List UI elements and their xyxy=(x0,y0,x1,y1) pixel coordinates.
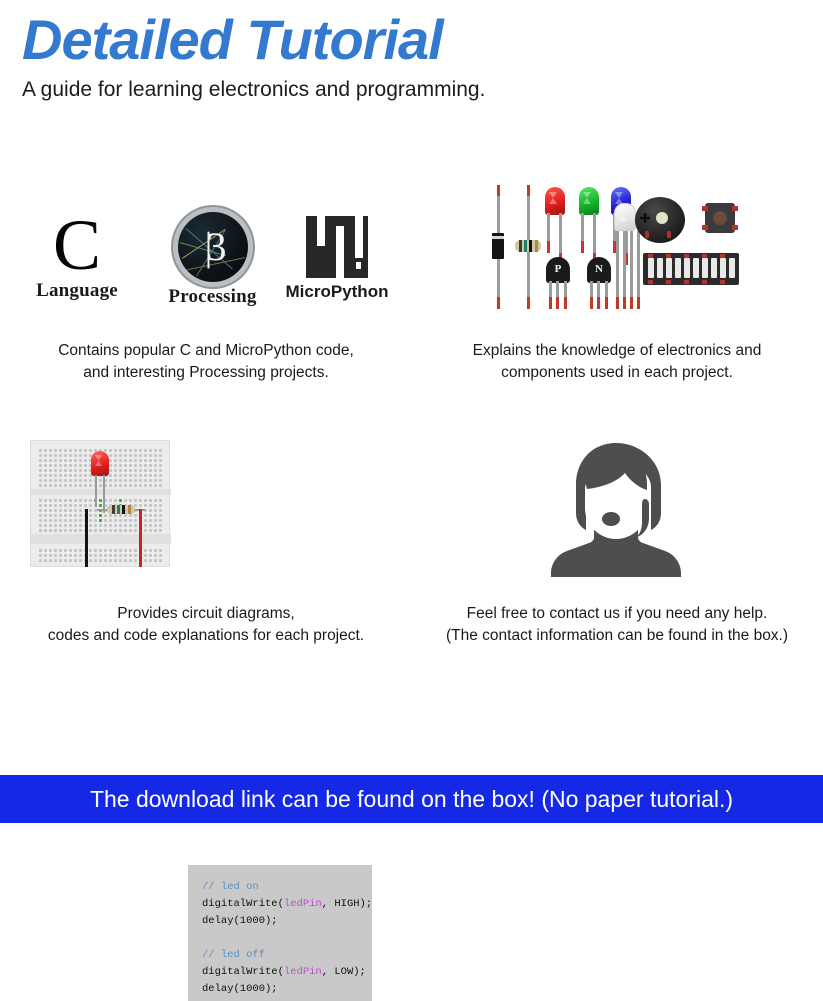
breadboard-hole xyxy=(149,524,152,527)
breadboard-hole xyxy=(49,449,52,452)
dip-pin xyxy=(702,280,707,284)
led-lead xyxy=(103,475,105,513)
band xyxy=(112,505,115,514)
breadboard-hole xyxy=(154,554,157,557)
breadboard-hole xyxy=(69,474,72,477)
breadboard-hole xyxy=(159,509,162,512)
breadboard-hole xyxy=(159,529,162,532)
breadboard-hole xyxy=(104,514,107,517)
breadboard-hole xyxy=(144,514,147,517)
breadboard-hole xyxy=(149,459,152,462)
band xyxy=(128,505,131,514)
breadboard-hole xyxy=(124,454,127,457)
support-caption: Feel free to contact us if you need any … xyxy=(411,603,823,647)
breadboard-hole xyxy=(144,559,147,562)
breadboard-hole xyxy=(74,479,77,482)
breadboard-hole xyxy=(109,449,112,452)
breadboard-hole xyxy=(69,554,72,557)
breadboard-hole xyxy=(109,474,112,477)
breadboard-hole xyxy=(79,514,82,517)
breadboard-hole xyxy=(134,474,137,477)
breadboard-hole-grid xyxy=(39,499,162,532)
breadboard-hole xyxy=(124,499,127,502)
download-link-banner: The download link can be found on the bo… xyxy=(0,775,823,823)
breadboard-hole xyxy=(104,549,107,552)
breadboard-hole xyxy=(69,459,72,462)
breadboard-hole xyxy=(144,529,147,532)
breadboard-hole xyxy=(64,479,67,482)
dip-pin xyxy=(720,280,725,284)
breadboard-hole xyxy=(59,454,62,457)
breadboard-hole xyxy=(84,459,87,462)
c-letter-icon: C xyxy=(18,212,136,278)
buzzer-pin xyxy=(645,231,649,238)
breadboard-hole xyxy=(109,479,112,482)
breadboard-hole xyxy=(129,459,132,462)
breadboard-hole xyxy=(59,554,62,557)
breadboard-hole xyxy=(74,529,77,532)
breadboard-hole xyxy=(89,484,92,487)
languages-caption: Contains popular C and MicroPython code,… xyxy=(0,340,412,384)
transistor-lead xyxy=(549,281,552,309)
breadboard-hole xyxy=(99,549,102,552)
dip-pin xyxy=(684,254,689,258)
band xyxy=(529,240,532,252)
breadboard-hole xyxy=(149,529,152,532)
breadboard-hole xyxy=(159,559,162,562)
buzzer-mark xyxy=(640,213,650,223)
breadboard-hole xyxy=(154,504,157,507)
breadboard-hole xyxy=(154,469,157,472)
breadboard-hole xyxy=(129,454,132,457)
breadboard-hole xyxy=(84,484,87,487)
breadboard-hole xyxy=(104,554,107,557)
breadboard-hole xyxy=(124,524,127,527)
breadboard-hole xyxy=(114,529,117,532)
breadboard-hole xyxy=(79,549,82,552)
breadboard-hole xyxy=(59,449,62,452)
breadboard-hole xyxy=(79,484,82,487)
breadboard-hole xyxy=(64,469,67,472)
dip-lever xyxy=(702,258,708,278)
breadboard-hole xyxy=(59,479,62,482)
button-pin xyxy=(702,225,708,230)
breadboard-hole xyxy=(114,474,117,477)
breadboard-hole xyxy=(89,509,92,512)
breadboard-hole xyxy=(49,499,52,502)
breadboard-hole xyxy=(154,529,157,532)
breadboard-hole xyxy=(139,479,142,482)
breadboard-hole xyxy=(59,474,62,477)
code-snippet-panel: // led on digitalWrite(ledPin, HIGH); de… xyxy=(188,865,372,1001)
micropython-mark-icon xyxy=(306,216,368,278)
breadboard-hole xyxy=(89,524,92,527)
breadboard-hole xyxy=(79,499,82,502)
breadboard-hole xyxy=(114,449,117,452)
breadboard-hole xyxy=(64,524,67,527)
breadboard-led-icon xyxy=(91,451,109,481)
breadboard-hole xyxy=(79,509,82,512)
electronic-components-illustration: P N xyxy=(483,185,739,309)
breadboard-hole xyxy=(124,464,127,467)
breadboard-hole xyxy=(39,449,42,452)
breadboard-hole xyxy=(139,454,142,457)
breadboard-hole xyxy=(134,549,137,552)
breadboard-hole xyxy=(119,524,122,527)
breadboard-hole xyxy=(149,504,152,507)
breadboard-hole xyxy=(59,529,62,532)
buzzer-icon xyxy=(635,197,685,243)
breadboard-hole xyxy=(154,459,157,462)
breadboard-hole xyxy=(84,499,87,502)
breadboard-hole xyxy=(94,519,97,522)
breadboard-hole xyxy=(94,524,97,527)
transistor-lead xyxy=(564,281,567,309)
breadboard-hole xyxy=(119,484,122,487)
breadboard-hole xyxy=(74,549,77,552)
breadboard-hole xyxy=(109,524,112,527)
page-header: Detailed Tutorial A guide for learning e… xyxy=(0,0,823,120)
breadboard-hole xyxy=(44,479,47,482)
breadboard-hole xyxy=(54,479,57,482)
page-title: Detailed Tutorial xyxy=(22,12,443,68)
breadboard-hole xyxy=(154,549,157,552)
breadboard-hole xyxy=(144,519,147,522)
breadboard-hole xyxy=(134,529,137,532)
breadboard-hole xyxy=(129,484,132,487)
breadboard-hole xyxy=(134,449,137,452)
breadboard-hole xyxy=(129,514,132,517)
breadboard-hole xyxy=(74,559,77,562)
breadboard-hole xyxy=(64,504,67,507)
breadboard-hole xyxy=(129,464,132,467)
breadboard-hole xyxy=(79,529,82,532)
breadboard-hole xyxy=(154,519,157,522)
code-token: , LOW); xyxy=(322,966,366,978)
breadboard-hole xyxy=(114,524,117,527)
breadboard-hole xyxy=(39,454,42,457)
led-bulb xyxy=(614,203,636,231)
breadboard-hole xyxy=(49,504,52,507)
breadboard-hole xyxy=(84,454,87,457)
breadboard-hole xyxy=(149,514,152,517)
breadboard-hole xyxy=(74,464,77,467)
breadboard-hole xyxy=(39,559,42,562)
breadboard-hole xyxy=(129,549,132,552)
breadboard-hole xyxy=(119,549,122,552)
breadboard-hole xyxy=(124,479,127,482)
breadboard-hole xyxy=(74,454,77,457)
breadboard-hole xyxy=(89,504,92,507)
micropython-logo: MicroPython xyxy=(278,212,396,302)
breadboard-hole xyxy=(99,554,102,557)
language-logo-row: C Language |3 Processing MicroPyth xyxy=(0,212,412,312)
breadboard-hole xyxy=(49,529,52,532)
breadboard-hole xyxy=(149,554,152,557)
mark-notch xyxy=(317,216,325,246)
dip-pin xyxy=(666,280,671,284)
breadboard-hole xyxy=(64,484,67,487)
breadboard-hole xyxy=(59,459,62,462)
breadboard-hole xyxy=(64,499,67,502)
feature-components: P N xyxy=(411,180,823,390)
breadboard-hole xyxy=(139,464,142,467)
breadboard-hole xyxy=(129,524,132,527)
breadboard-hole xyxy=(39,519,42,522)
breadboard-circuit-diagram xyxy=(30,440,170,567)
breadboard-hole xyxy=(139,484,142,487)
breadboard-hole xyxy=(159,464,162,467)
breadboard-hole xyxy=(124,474,127,477)
breadboard-hole xyxy=(79,519,82,522)
breadboard-hole xyxy=(99,499,102,502)
breadboard-hole xyxy=(124,459,127,462)
feature-circuits-and-code: // led on digitalWrite(ledPin, HIGH); de… xyxy=(0,425,412,655)
breadboard-hole xyxy=(119,479,122,482)
band xyxy=(519,240,522,252)
breadboard-hole xyxy=(49,484,52,487)
breadboard-hole xyxy=(69,549,72,552)
breadboard-hole xyxy=(79,559,82,562)
breadboard-hole xyxy=(69,499,72,502)
code-token: // led on xyxy=(202,881,259,893)
breadboard-hole xyxy=(124,549,127,552)
breadboard-hole xyxy=(124,514,127,517)
led-lead xyxy=(95,475,97,507)
led-bulb xyxy=(91,451,109,476)
breadboard-hole xyxy=(54,559,57,562)
breadboard-hole xyxy=(114,484,117,487)
breadboard-hole xyxy=(159,484,162,487)
breadboard-hole xyxy=(124,519,127,522)
breadboard-hole xyxy=(94,554,97,557)
breadboard-hole xyxy=(54,499,57,502)
breadboard-hole xyxy=(64,509,67,512)
breadboard-hole xyxy=(44,484,47,487)
breadboard-hole xyxy=(139,469,142,472)
breadboard-hole xyxy=(44,519,47,522)
diode-icon xyxy=(492,233,504,259)
breadboard-hole xyxy=(54,459,57,462)
breadboard-hole xyxy=(54,509,57,512)
rgb-led-lead xyxy=(637,231,640,309)
breadboard-hole xyxy=(49,559,52,562)
breadboard-hole xyxy=(99,559,102,562)
breadboard-hole xyxy=(124,559,127,562)
breadboard-hole xyxy=(84,449,87,452)
breadboard-hole xyxy=(159,459,162,462)
breadboard-hole xyxy=(49,464,52,467)
breadboard-hole xyxy=(109,459,112,462)
processing-logo: |3 Processing xyxy=(140,212,285,308)
breadboard-hole xyxy=(144,479,147,482)
breadboard-hole xyxy=(114,464,117,467)
led-lead xyxy=(581,213,584,253)
breadboard-hole xyxy=(144,449,147,452)
button-pin xyxy=(702,206,708,211)
transistor-lead xyxy=(590,281,593,309)
page-subtitle: A guide for learning electronics and pro… xyxy=(22,78,485,102)
dip-lever xyxy=(711,258,717,278)
breadboard-hole xyxy=(144,484,147,487)
breadboard-hole xyxy=(54,519,57,522)
breadboard-hole xyxy=(44,499,47,502)
breadboard-hole xyxy=(89,529,92,532)
breadboard-hole xyxy=(64,454,67,457)
breadboard-hole xyxy=(99,514,102,517)
breadboard-hole xyxy=(114,469,117,472)
feature-support: Feel free to contact us if you need any … xyxy=(411,425,823,655)
processing-label: Processing xyxy=(140,286,285,308)
breadboard-hole xyxy=(149,454,152,457)
breadboard-hole xyxy=(154,479,157,482)
breadboard-hole xyxy=(39,504,42,507)
breadboard-hole xyxy=(49,479,52,482)
breadboard-hole xyxy=(149,549,152,552)
band xyxy=(117,505,120,514)
breadboard-hole xyxy=(119,499,122,502)
support-agent-headset-icon xyxy=(541,433,691,583)
breadboard-hole xyxy=(154,474,157,477)
breadboard-hole xyxy=(159,549,162,552)
dip-pin xyxy=(648,254,653,258)
breadboard-hole xyxy=(119,449,122,452)
breadboard-hole-grid xyxy=(39,549,162,562)
breadboard-hole xyxy=(69,524,72,527)
breadboard-hole xyxy=(64,474,67,477)
dip-switch-icon xyxy=(643,253,739,285)
breadboard-hole xyxy=(59,519,62,522)
breadboard-hole xyxy=(144,474,147,477)
breadboard-hole xyxy=(109,514,112,517)
transistor-lead xyxy=(556,281,559,309)
breadboard-hole xyxy=(89,554,92,557)
breadboard-channel xyxy=(31,534,171,544)
breadboard-hole xyxy=(79,459,82,462)
breadboard-hole xyxy=(84,474,87,477)
breadboard-hole xyxy=(139,499,142,502)
breadboard-hole xyxy=(39,509,42,512)
breadboard-hole xyxy=(149,559,152,562)
breadboard-hole xyxy=(39,479,42,482)
breadboard-hole xyxy=(154,514,157,517)
breadboard-hole xyxy=(54,474,57,477)
breadboard-hole xyxy=(139,459,142,462)
breadboard-hole xyxy=(69,454,72,457)
breadboard-hole xyxy=(74,459,77,462)
breadboard-hole xyxy=(79,554,82,557)
breadboard-hole xyxy=(84,479,87,482)
breadboard-hole xyxy=(119,559,122,562)
breadboard-hole xyxy=(109,484,112,487)
breadboard-hole xyxy=(109,469,112,472)
breadboard-hole xyxy=(129,554,132,557)
breadboard-hole xyxy=(79,449,82,452)
breadboard-hole xyxy=(104,519,107,522)
transistor-label: N xyxy=(587,263,611,275)
breadboard-hole xyxy=(154,484,157,487)
breadboard-hole xyxy=(39,464,42,467)
breadboard-hole xyxy=(114,514,117,517)
breadboard-hole xyxy=(69,484,72,487)
dip-lever xyxy=(720,258,726,278)
dip-lever xyxy=(648,258,654,278)
breadboard-hole xyxy=(69,464,72,467)
breadboard-hole xyxy=(104,529,107,532)
breadboard-hole xyxy=(154,449,157,452)
breadboard-hole xyxy=(69,519,72,522)
breadboard-hole xyxy=(144,554,147,557)
breadboard-hole xyxy=(99,484,102,487)
mark-notch xyxy=(336,226,344,278)
breadboard-hole xyxy=(64,559,67,562)
breadboard-hole xyxy=(44,469,47,472)
breadboard-hole xyxy=(159,449,162,452)
breadboard-hole xyxy=(149,449,152,452)
breadboard-hole xyxy=(154,524,157,527)
breadboard-hole xyxy=(144,499,147,502)
breadboard-hole xyxy=(64,514,67,517)
breadboard-hole xyxy=(64,449,67,452)
breadboard-hole xyxy=(124,554,127,557)
breadboard-hole xyxy=(149,474,152,477)
breadboard-hole xyxy=(109,519,112,522)
breadboard-hole xyxy=(144,469,147,472)
code-token: digitalWrite( xyxy=(202,898,284,910)
breadboard-hole xyxy=(94,529,97,532)
breadboard-hole xyxy=(79,479,82,482)
breadboard-hole xyxy=(54,449,57,452)
breadboard-hole xyxy=(144,464,147,467)
led-bulb xyxy=(579,187,599,215)
breadboard-hole xyxy=(149,479,152,482)
breadboard-hole xyxy=(99,519,102,522)
breadboard-hole xyxy=(159,514,162,517)
breadboard-hole xyxy=(144,454,147,457)
breadboard-hole xyxy=(134,454,137,457)
transistor-label: P xyxy=(546,263,570,275)
breadboard-hole xyxy=(154,509,157,512)
resistor-icon xyxy=(515,240,541,252)
breadboard-hole xyxy=(39,554,42,557)
breadboard-hole xyxy=(69,559,72,562)
mark-notch xyxy=(355,216,363,258)
breadboard-hole xyxy=(49,459,52,462)
breadboard-hole xyxy=(134,554,137,557)
breadboard-hole xyxy=(114,459,117,462)
breadboard-hole xyxy=(54,469,57,472)
breadboard-hole xyxy=(69,449,72,452)
breadboard-hole xyxy=(119,459,122,462)
code-token: delay(1000); xyxy=(202,915,278,927)
breadboard-hole xyxy=(99,524,102,527)
breadboard-hole xyxy=(149,484,152,487)
breadboard-hole xyxy=(44,549,47,552)
breadboard-hole xyxy=(54,529,57,532)
breadboard-hole xyxy=(74,469,77,472)
breadboard-hole xyxy=(39,484,42,487)
breadboard-hole xyxy=(54,554,57,557)
breadboard-hole xyxy=(39,469,42,472)
breadboard-hole xyxy=(44,554,47,557)
breadboard-hole xyxy=(124,449,127,452)
breadboard-hole xyxy=(159,479,162,482)
breadboard-hole xyxy=(49,509,52,512)
breadboard-hole xyxy=(114,454,117,457)
breadboard-hole xyxy=(149,519,152,522)
c-language-label: Language xyxy=(18,280,136,302)
breadboard-hole xyxy=(159,554,162,557)
